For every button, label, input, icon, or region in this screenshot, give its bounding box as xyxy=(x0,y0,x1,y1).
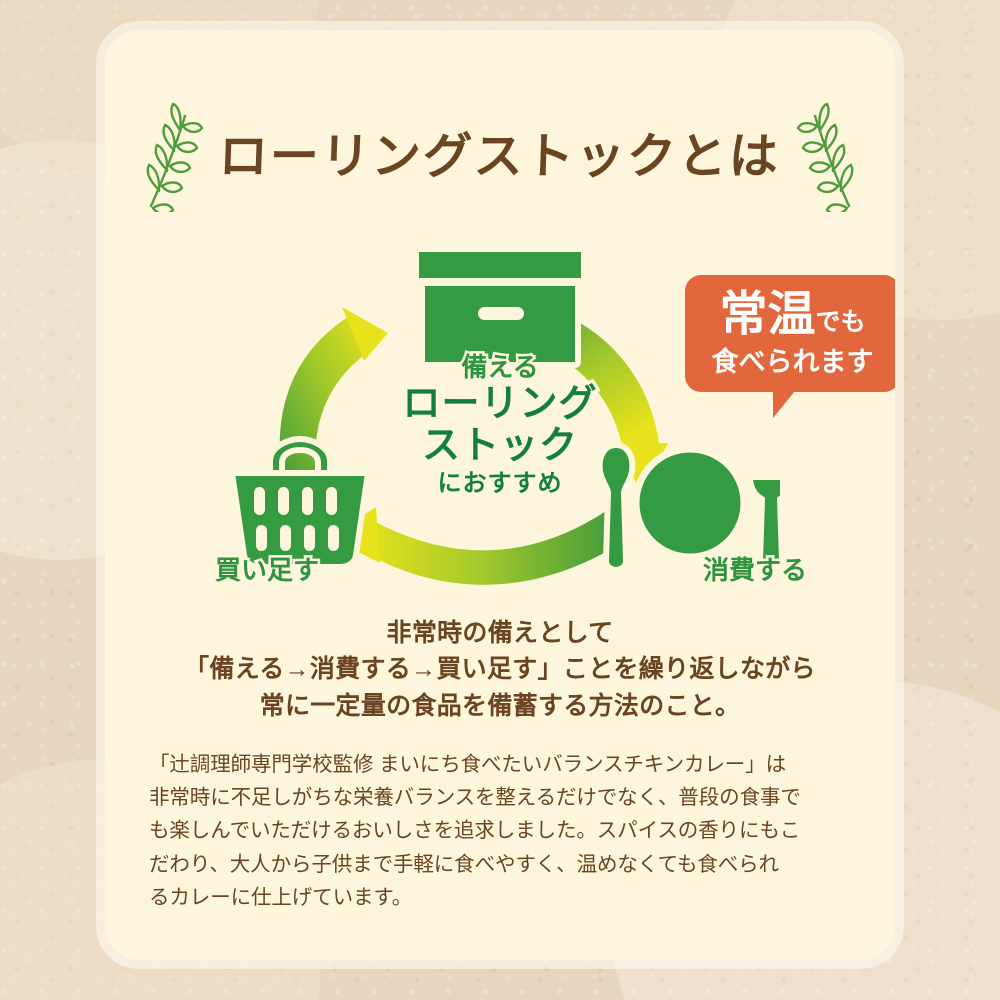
badge-line1-large: 常温 xyxy=(719,288,815,341)
cycle-label-shohi: 消費する xyxy=(655,550,855,587)
description-line4: だわり、大人から子供まで手軽に食べやすく、温めなくても食べられ xyxy=(149,848,861,881)
arrow-shohi-to-kaitasu xyxy=(328,507,618,585)
cycle-label-kaitasu: 買い足す xyxy=(167,550,367,587)
summary-block: 非常時の備えとして 「備える→消費する→買い足す」ことを繰り返しながら 常に一定… xyxy=(105,615,895,724)
description-line3: も楽しんでいただけるおいしさを追求しました。スパイスの香りにもこ xyxy=(149,814,861,847)
arrow-kaitasu-to-sonaeru xyxy=(280,307,388,489)
room-temperature-badge: 常温でも 食べられます xyxy=(685,275,895,392)
badge-tail-icon xyxy=(773,391,795,418)
content-card: ローリングストックとは xyxy=(105,30,895,960)
summary-line2: 「備える→消費する→買い足す」ことを繰り返しながら xyxy=(105,651,895,687)
description-line1: 「辻調理師専門学校監修 まいにち食べたいバランスチキンカレー」は xyxy=(149,748,861,781)
infographic-page: ローリングストックとは xyxy=(0,0,1000,1000)
badge-line2: 食べられます xyxy=(699,349,886,376)
description-line5: るカレーに仕上げています。 xyxy=(149,881,861,914)
badge-line1-small: でも xyxy=(816,308,866,336)
summary-line1: 非常時の備えとして xyxy=(105,615,895,651)
page-title: ローリングストックとは xyxy=(218,117,781,188)
product-description: 「辻調理師専門学校監修 まいにち食べたいバランスチキンカレー」は 非常時に不足し… xyxy=(149,748,861,914)
leaf-branch-icon xyxy=(139,92,209,212)
title-row: ローリングストックとは xyxy=(105,92,895,212)
description-line2: 非常時に不足しがちな栄養バランスを整えるだけでなく、普段の食事で xyxy=(149,781,861,814)
badge-line1: 常温でも xyxy=(699,291,886,339)
summary-line3: 常に一定量の食品を備蓄する方法のこと。 xyxy=(105,688,895,724)
leaf-branch-icon xyxy=(791,92,861,212)
